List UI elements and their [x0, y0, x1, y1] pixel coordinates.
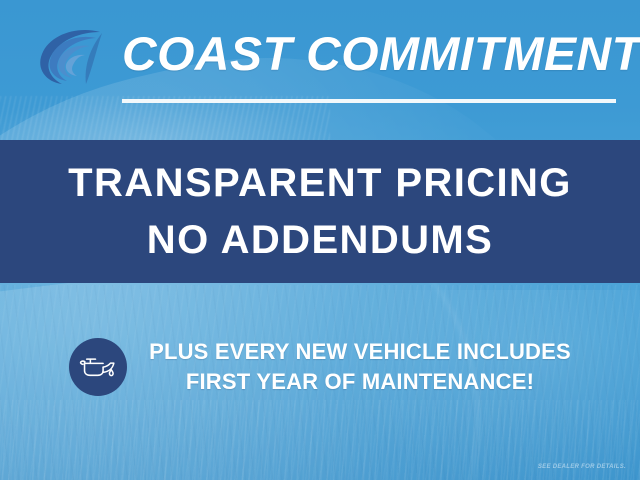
- offer-row: PLUS EVERY NEW VEHICLE INCLUDES FIRST YE…: [0, 328, 640, 406]
- offer-text: PLUS EVERY NEW VEHICLE INCLUDES FIRST YE…: [149, 337, 571, 397]
- promo-line-1: TRANSPARENT PRICING: [68, 155, 572, 212]
- banner-header: COAST COMMITMENT: [0, 0, 640, 140]
- coast-commitment-banner: COAST COMMITMENT TRANSPARENT PRICING NO …: [0, 0, 640, 480]
- offer-line-2: FIRST YEAR OF MAINTENANCE!: [186, 367, 534, 397]
- promo-line-2: NO ADDENDUMS: [147, 212, 493, 269]
- oil-can-icon: [69, 338, 127, 396]
- promo-band: TRANSPARENT PRICING NO ADDENDUMS: [0, 140, 640, 283]
- page-title: COAST COMMITMENT: [122, 26, 632, 82]
- header-divider: [122, 99, 616, 103]
- coast-wave-swirl-logo-icon: [30, 24, 122, 96]
- offer-line-1: PLUS EVERY NEW VEHICLE INCLUDES: [149, 337, 571, 367]
- disclaimer-text: SEE DEALER FOR DETAILS.: [538, 463, 626, 471]
